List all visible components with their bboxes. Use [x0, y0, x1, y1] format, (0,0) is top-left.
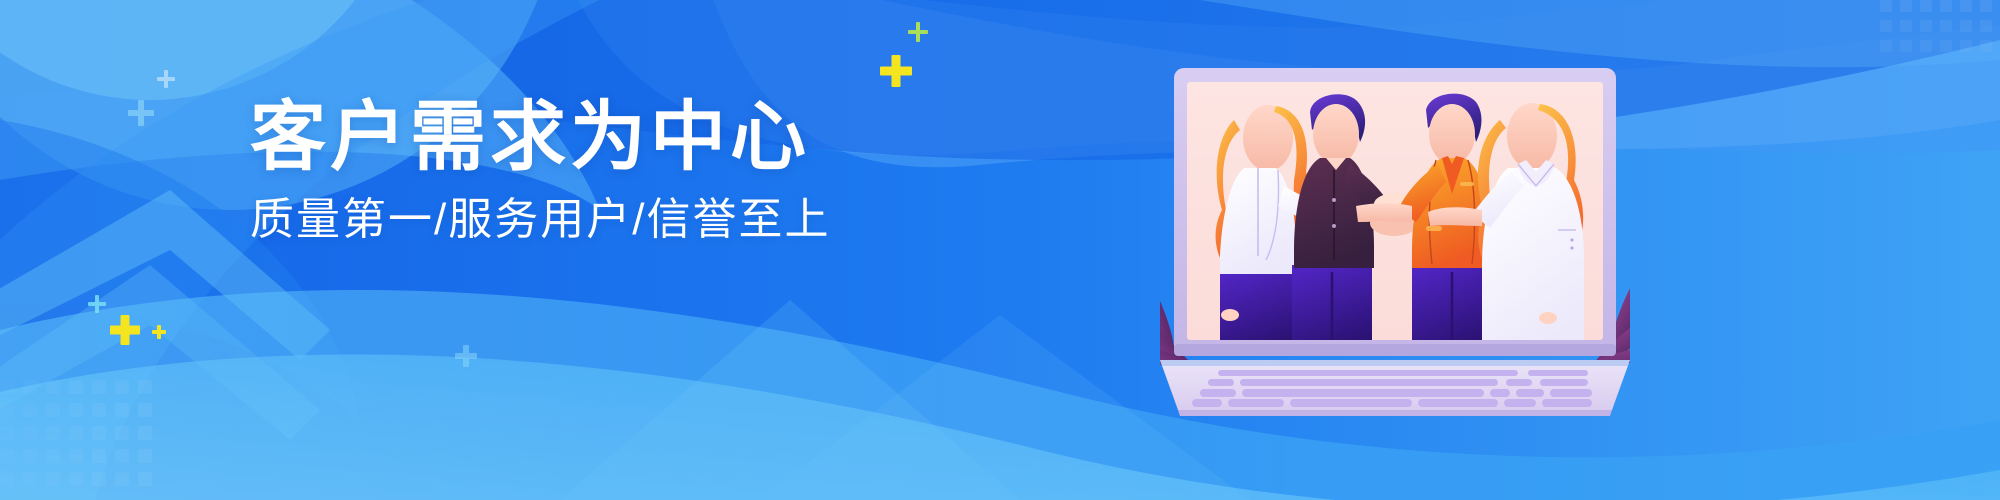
grid-dot — [69, 449, 83, 463]
banner-text-block: 客户需求为中心 质量第一/服务用户/信誉至上 — [250, 100, 830, 242]
background-waves — [0, 0, 2000, 500]
grid-dot — [23, 380, 37, 394]
grid-dot — [115, 380, 129, 394]
grid-dot — [92, 426, 106, 440]
grid-dot — [69, 426, 83, 440]
grid-dot — [23, 472, 37, 486]
grid-dot — [0, 426, 14, 440]
grid-dot — [1880, 0, 1892, 12]
grid-dot — [0, 472, 14, 486]
grid-dot — [138, 426, 152, 440]
promo-banner: 客户需求为中心 质量第一/服务用户/信誉至上 — [0, 0, 2000, 500]
grid-dot — [1940, 0, 1952, 12]
grid-dot — [115, 472, 129, 486]
grid-dot — [46, 380, 60, 394]
grid-dot — [1980, 20, 1992, 32]
grid-dot — [138, 380, 152, 394]
grid-dot — [23, 426, 37, 440]
plus-icon — [880, 55, 912, 87]
grid-dot — [46, 426, 60, 440]
plus-icon — [908, 22, 928, 42]
grid-dot — [23, 449, 37, 463]
grid-dot — [115, 426, 129, 440]
grid-dot — [1880, 40, 1892, 52]
plus-icon — [455, 345, 477, 367]
grid-dot — [23, 403, 37, 417]
grid-dot — [1960, 40, 1972, 52]
grid-dot — [0, 449, 14, 463]
plus-icon — [152, 325, 166, 339]
plus-icon — [88, 295, 106, 313]
banner-subtitle: 质量第一/服务用户/信誉至上 — [250, 198, 830, 242]
grid-dot — [1900, 0, 1912, 12]
grid-dot — [1880, 20, 1892, 32]
grid-dot — [69, 403, 83, 417]
grid-dot — [1980, 40, 1992, 52]
grid-dot — [46, 403, 60, 417]
grid-dot — [46, 472, 60, 486]
grid-dot — [69, 472, 83, 486]
grid-dot — [46, 449, 60, 463]
grid-dot — [138, 403, 152, 417]
grid-dot — [115, 449, 129, 463]
grid-dot — [1960, 20, 1972, 32]
grid-dot — [0, 403, 14, 417]
grid-dot — [1940, 40, 1952, 52]
grid-dot — [92, 449, 106, 463]
plus-icon — [128, 100, 154, 126]
plus-icon — [110, 315, 140, 345]
grid-dot — [1920, 0, 1932, 12]
plus-icon — [157, 70, 175, 88]
grid-dot — [1900, 20, 1912, 32]
grid-dot — [1960, 0, 1972, 12]
dot-grid-top-right — [1880, 0, 2000, 70]
grid-dot — [1920, 40, 1932, 52]
grid-dot — [92, 472, 106, 486]
grid-dot — [0, 380, 14, 394]
team-handshake-illustration — [1160, 60, 1630, 420]
grid-dot — [69, 380, 83, 394]
grid-dot — [115, 403, 129, 417]
page-title: 客户需求为中心 — [250, 100, 830, 176]
grid-dot — [138, 472, 152, 486]
grid-dot — [1920, 20, 1932, 32]
grid-dot — [92, 380, 106, 394]
dot-grid-bottom-left — [0, 380, 160, 500]
grid-dot — [1940, 20, 1952, 32]
grid-dot — [138, 449, 152, 463]
grid-dot — [92, 403, 106, 417]
grid-dot — [1980, 0, 1992, 12]
grid-dot — [1900, 40, 1912, 52]
